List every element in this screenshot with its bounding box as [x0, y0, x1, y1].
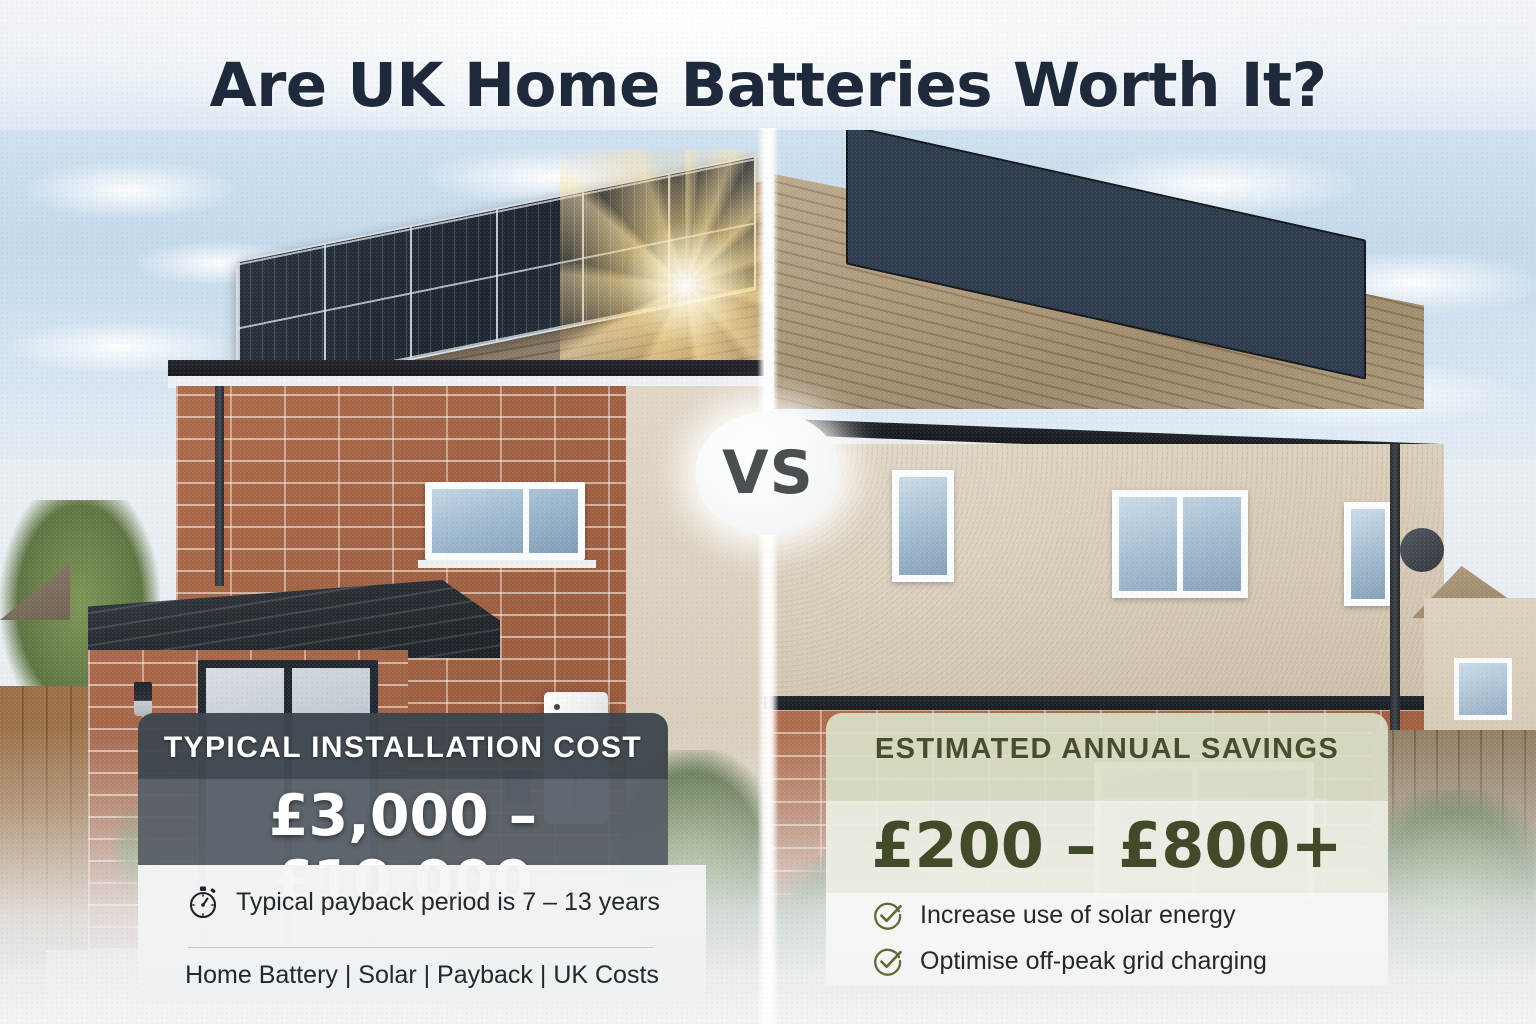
cloud: [20, 160, 240, 220]
upper-window-centre: [1112, 490, 1248, 598]
payback-text: Typical payback period is 7 – 13 years: [236, 888, 660, 917]
upper-window: [425, 482, 585, 560]
benefit-item: Optimise off-peak grid charging: [872, 945, 1267, 977]
infographic-canvas: Are UK Home Batteries Worth It? VS TYPIC…: [0, 0, 1536, 1024]
check-circle-icon: [872, 945, 904, 977]
payback-row: Typical payback period is 7 – 13 years: [186, 885, 660, 919]
benefit-text: Optimise off-peak grid charging: [920, 947, 1267, 976]
check-circle-icon: [872, 899, 904, 931]
shrub: [1372, 790, 1536, 1000]
stopwatch-icon: [186, 885, 220, 919]
savings-card-value: £200 – £800+: [826, 809, 1388, 882]
savings-card-body: Increase use of solar energy Optimise of…: [826, 893, 1388, 985]
neighbour-window: [1454, 658, 1512, 720]
cost-card-tags: Home Battery | Solar | Payback | UK Cost…: [138, 961, 706, 990]
savings-card-heading: ESTIMATED ANNUAL SAVINGS: [826, 733, 1388, 766]
installation-cost-card: TYPICAL INSTALLATION COST £3,000 – £10,0…: [138, 713, 706, 1003]
versus-badge-label: VS: [722, 438, 814, 508]
page-title: Are UK Home Batteries Worth It?: [0, 50, 1536, 121]
annual-savings-card: ESTIMATED ANNUAL SAVINGS £200 – £800+ In…: [826, 713, 1388, 985]
upper-window-right: [1344, 502, 1392, 606]
roof-fascia: [168, 360, 768, 376]
rendered-upper-wall: [764, 444, 1444, 702]
versus-badge: VS: [695, 411, 841, 535]
garden-fence: [0, 686, 96, 950]
window-sill: [418, 560, 596, 568]
benefit-item: Increase use of solar energy: [872, 899, 1235, 931]
downpipe: [215, 386, 224, 586]
outdoor-wall-lamp: [134, 682, 152, 716]
card-divider-rule: [188, 947, 654, 948]
benefit-text: Increase use of solar energy: [920, 901, 1235, 930]
cost-card-body: Typical payback period is 7 – 13 years H…: [138, 865, 706, 1003]
satellite-dish: [1400, 528, 1444, 572]
cost-card-heading: TYPICAL INSTALLATION COST: [138, 731, 668, 765]
upper-window-left: [892, 470, 954, 582]
